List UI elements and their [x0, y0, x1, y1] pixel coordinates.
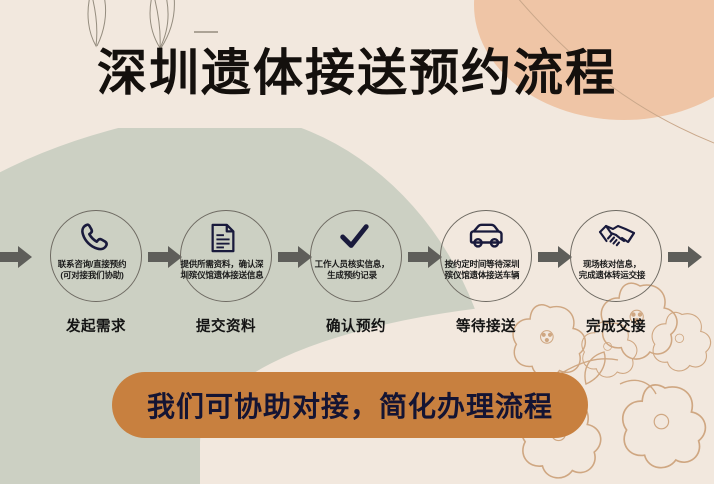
step-3-desc: 工作人员核实信息， 生成预约记录 [298, 259, 406, 280]
car-icon [467, 221, 505, 255]
step-4-label: 等待接送 [426, 315, 546, 336]
step-3-desc-line2: 生成预约记录 [298, 270, 406, 281]
check-icon [337, 221, 375, 255]
step-2-desc-line1: 提供所需资料，确认深 [168, 259, 276, 270]
handshake-icon [597, 221, 635, 255]
step-1[interactable]: 联系咨询/直接预约 (可对接我们协助) 发起需求 [36, 210, 156, 350]
step-3-desc-line1: 工作人员核实信息， [298, 259, 406, 270]
step-1-label: 发起需求 [36, 315, 156, 336]
step-3-circle: 工作人员核实信息， 生成预约记录 [310, 210, 402, 302]
step-4[interactable]: 按约定时间等待深圳 殡仪馆遗体接送车辆 等待接送 [426, 210, 546, 350]
arrow-1-icon [0, 246, 32, 268]
step-4-desc-line1: 按约定时间等待深圳 [428, 259, 536, 270]
step-3[interactable]: 工作人员核实信息， 生成预约记录 确认预约 [296, 210, 416, 350]
step-1-desc-line1: 联系咨询/直接预约 [38, 259, 146, 270]
step-4-desc: 按约定时间等待深圳 殡仪馆遗体接送车辆 [428, 259, 536, 280]
step-5-desc-line2: 完成遗体转运交接 [558, 270, 666, 281]
step-1-desc-line2: (可对接我们协助) [38, 270, 146, 281]
step-2-circle: 提供所需资料，确认深 圳殡仪馆遗体接送信息 [180, 210, 272, 302]
step-4-desc-line2: 殡仪馆遗体接送车辆 [428, 270, 536, 281]
phone-icon [77, 221, 115, 255]
step-5-circle: 现场核对信息， 完成遗体转运交接 [570, 210, 662, 302]
page-title: 深圳遗体接送预约流程 [0, 48, 714, 98]
bottom-banner[interactable]: 我们可协助对接，简化办理流程 [112, 372, 588, 438]
step-1-desc: 联系咨询/直接预约 (可对接我们协助) [38, 259, 146, 280]
step-2[interactable]: 提供所需资料，确认深 圳殡仪馆遗体接送信息 提交资料 [166, 210, 286, 350]
step-5[interactable]: 现场核对信息， 完成遗体转运交接 完成交接 [556, 210, 676, 350]
document-icon [207, 221, 245, 255]
step-3-label: 确认预约 [296, 315, 416, 336]
step-2-desc: 提供所需资料，确认深 圳殡仪馆遗体接送信息 [168, 259, 276, 280]
step-2-desc-line2: 圳殡仪馆遗体接送信息 [168, 270, 276, 281]
process-flow: 联系咨询/直接预约 (可对接我们协助) 发起需求 [0, 210, 714, 350]
thin-curve-decoration [484, 0, 714, 230]
bottom-banner-text: 我们可协助对接，简化办理流程 [147, 385, 553, 425]
step-5-desc: 现场核对信息， 完成遗体转运交接 [558, 259, 666, 280]
step-5-desc-line1: 现场核对信息， [558, 259, 666, 270]
step-5-label: 完成交接 [556, 315, 676, 336]
step-2-label: 提交资料 [166, 315, 286, 336]
step-4-circle: 按约定时间等待深圳 殡仪馆遗体接送车辆 [440, 210, 532, 302]
poster-root: 深圳遗体接送预约流程 [0, 0, 714, 484]
step-1-circle: 联系咨询/直接预约 (可对接我们协助) [50, 210, 142, 302]
